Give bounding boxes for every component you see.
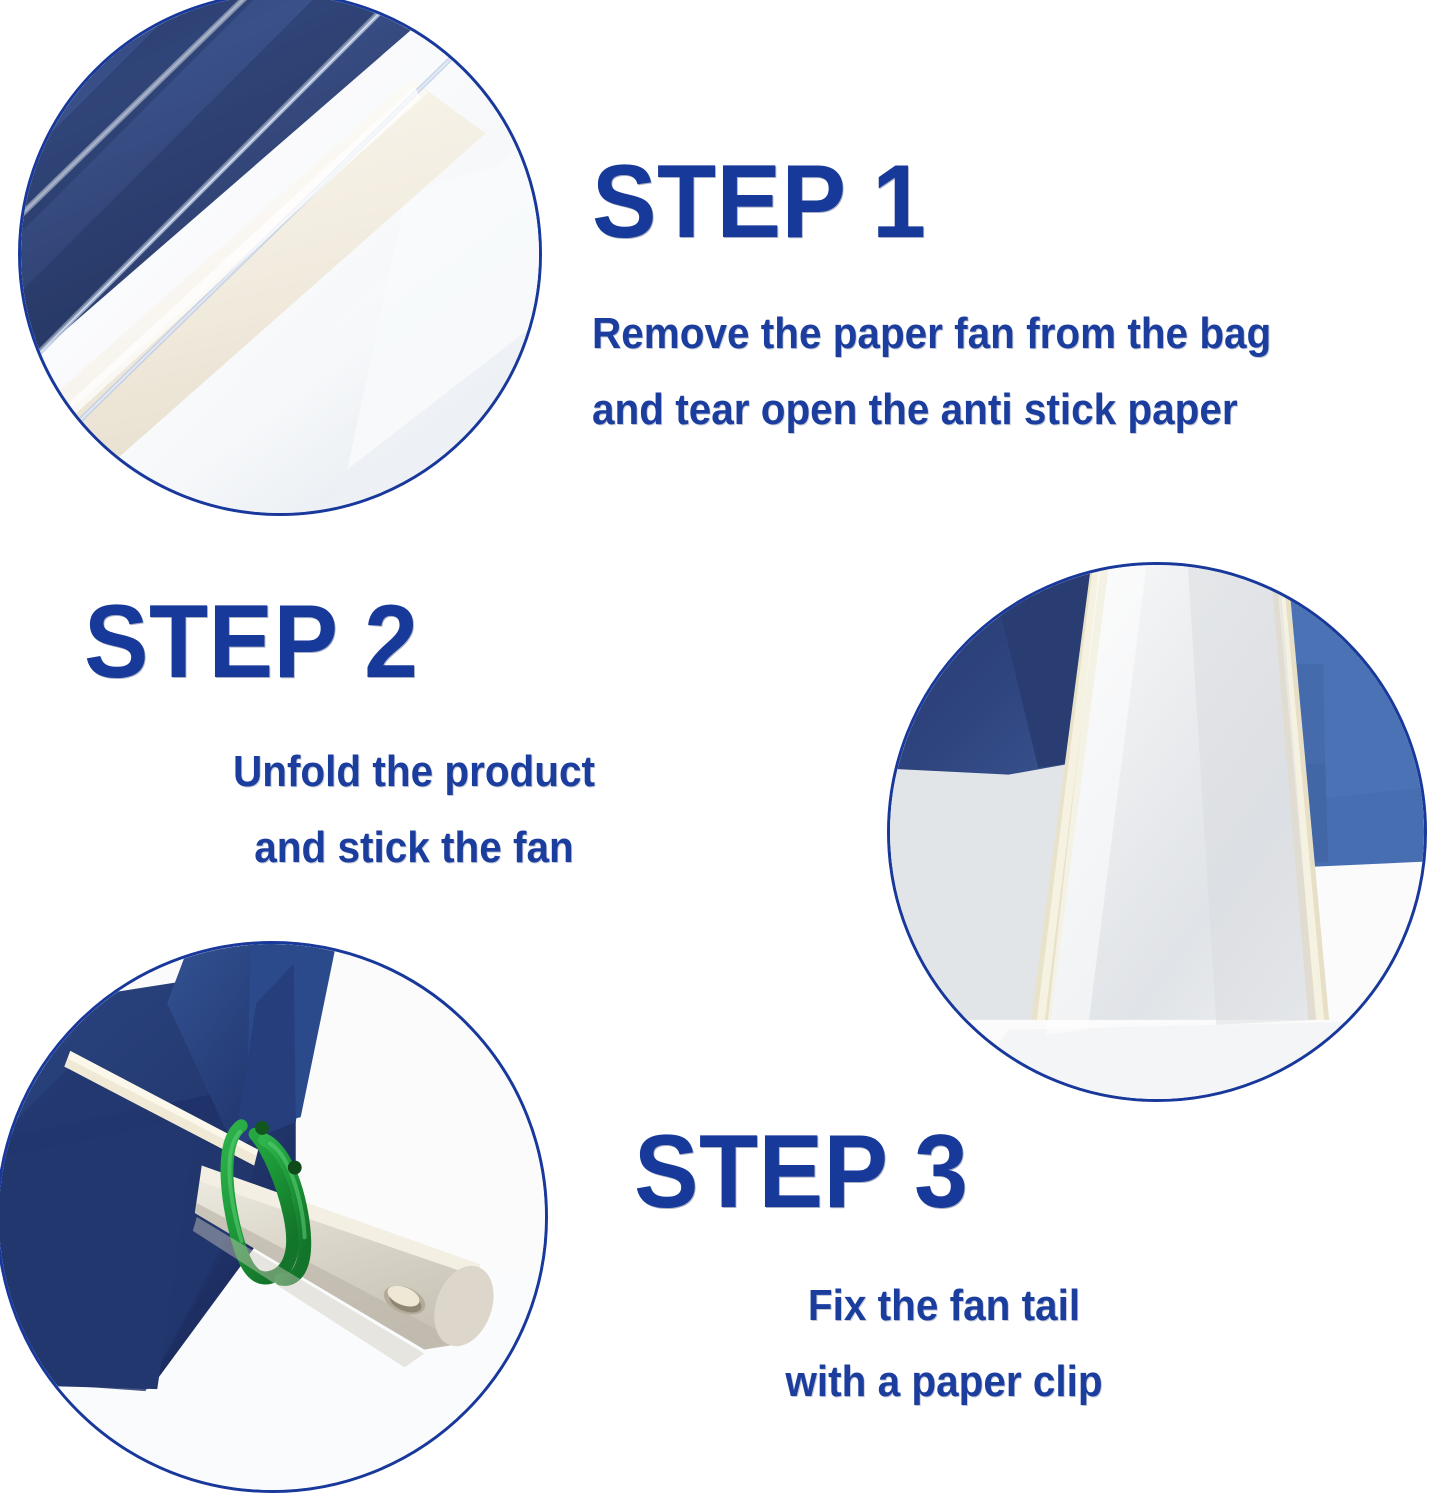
step-3-title: STEP 3 — [634, 1120, 1211, 1224]
step-3-line-2: with a paper clip — [659, 1344, 1229, 1420]
step-3-line-1: Fix the fan tail — [659, 1268, 1229, 1344]
fan-tail-paper-clip-photo — [0, 941, 548, 1493]
step-1-line-2: and tear open the anti stick paper — [592, 372, 1271, 448]
step-2-text-block: STEP 2 Unfold the product and stick the … — [84, 590, 744, 885]
step-1-line-1: Remove the paper fan from the bag — [592, 296, 1271, 372]
step-2-line-2: and stick the fan — [110, 810, 717, 886]
step-2-title: STEP 2 — [84, 590, 698, 694]
step-1-title: STEP 1 — [592, 150, 1279, 254]
pleated-fan-in-bag-photo — [18, 0, 542, 516]
step-2-description: Unfold the product and stick the fan — [84, 734, 744, 885]
instruction-graphic: STEP 1 Remove the paper fan from the bag… — [0, 0, 1434, 1500]
step-2-line-1: Unfold the product — [110, 734, 717, 810]
step-3-text-block: STEP 3 Fix the fan tail with a paper cli… — [634, 1120, 1254, 1419]
step-1-description: Remove the paper fan from the bag and te… — [592, 296, 1330, 447]
step-3-description: Fix the fan tail with a paper clip — [634, 1268, 1254, 1419]
unfolded-fan-blade-photo — [887, 562, 1427, 1102]
step-1-text-block: STEP 1 Remove the paper fan from the bag… — [592, 150, 1330, 447]
